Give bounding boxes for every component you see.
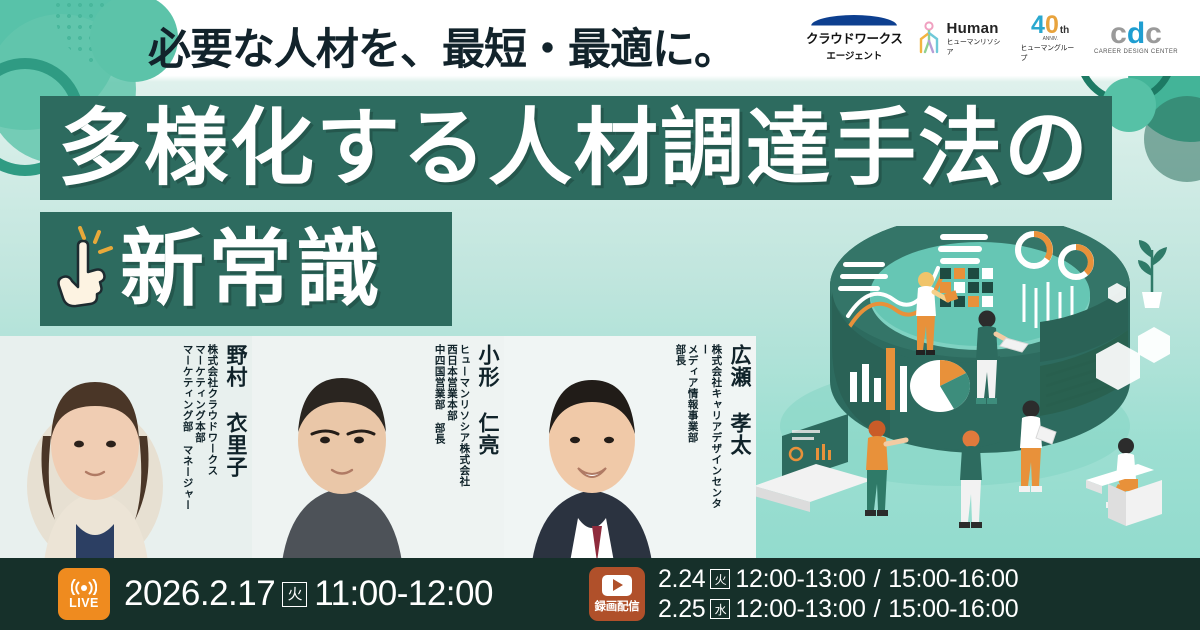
cdc-mark-2: d <box>1127 21 1145 47</box>
speaker-name-2: 広瀬 孝太 <box>727 344 750 456</box>
speakers-row: 野村 衣里子 株式会社クラウドワークス マーケティング本部 マーケティング部 マ… <box>0 336 760 562</box>
recorded-row-0: 2.24 火 12:00-13:00 / 15:00-16:00 <box>658 565 1018 594</box>
recorded-schedule-group: 録画配信 2.24 火 12:00-13:00 / 15:00-16:00 2.… <box>589 565 1018 624</box>
human-resocia-logo-sub: ヒューマンリソシア <box>946 37 1006 57</box>
human-group-40th-logo: 4 0 th ANNIV. ヒューマングループ <box>1020 13 1080 63</box>
recorded-badge: 録画配信 <box>589 567 645 621</box>
live-broadcast-icon <box>71 579 97 595</box>
recorded-slot2-1: 15:00-16:00 <box>888 595 1018 624</box>
decor-circle-right-2 <box>1144 96 1200 182</box>
cdc-letter-marks: c d c <box>1110 21 1162 47</box>
speaker-org-line-1-0: ヒューマンリソシア株式会社 <box>458 344 469 487</box>
schedule-bar: LIVE 2026.2.17 火 11:00-12:00 録画配信 2.24 火… <box>0 558 1200 630</box>
human-figure-icon <box>916 21 942 55</box>
cdc-mark-3: c <box>1145 21 1162 47</box>
recorded-date-0: 2.24 <box>658 565 705 594</box>
headline-line2: 新常識 <box>120 227 384 311</box>
recorded-rows: 2.24 火 12:00-13:00 / 15:00-16:00 2.25 水 … <box>658 565 1018 624</box>
human-resocia-logo: Human ヒューマンリソシア <box>916 20 1006 57</box>
speaker-labels-2: 広瀬 孝太 株式会社キャリアデザインセンター メディア情報事業部 部長 <box>674 344 750 516</box>
recorded-weekday-0: 火 <box>710 569 730 589</box>
speaker-labels-1: 小形 仁亮 ヒューマンリソシア株式会社 西日本営業本部 中四国営業部 部長 <box>433 344 498 516</box>
recorded-date-1: 2.25 <box>658 595 705 624</box>
speaker-org-line-1-2: 中四国営業部 部長 <box>433 344 444 445</box>
recorded-weekday-1: 水 <box>710 599 730 619</box>
live-weekday: 火 <box>282 582 307 607</box>
cdc-mark-1: c <box>1110 21 1127 47</box>
decor-dotted-circle-left <box>55 0 163 66</box>
headline-bar-line1: 多様化する人材調達手法の <box>40 96 1112 200</box>
speaker-org-line-2-2: 部長 <box>674 344 685 366</box>
headline-bar-line2: 新常識 <box>40 212 452 326</box>
speaker-card-0: 野村 衣里子 株式会社クラウドワークス マーケティング本部 マーケティング部 マ… <box>0 336 252 562</box>
live-schedule-group: LIVE 2026.2.17 火 11:00-12:00 <box>58 568 493 620</box>
partner-logo-bar: クラウドワークス エージェント Human ヒューマンリソシア <box>780 0 1200 76</box>
career-design-center-logo: c d c CAREER DESIGN CENTER <box>1094 21 1178 55</box>
live-datetime: 2026.2.17 火 11:00-12:00 <box>124 574 493 614</box>
human-resocia-logo-main: Human <box>946 20 998 37</box>
speaker-card-2: 広瀬 孝太 株式会社キャリアデザインセンター メディア情報事業部 部長 <box>504 336 756 562</box>
human-group-logo-sub: ヒューマングループ <box>1020 43 1080 63</box>
anniversary-number-4: 4 <box>1031 13 1045 38</box>
recorded-slot1-0: 12:00-13:00 <box>735 565 865 594</box>
anniversary-number-0: 0 <box>1045 13 1059 38</box>
recorded-slot2-0: 15:00-16:00 <box>888 565 1018 594</box>
live-badge-label: LIVE <box>69 596 99 610</box>
crowdworks-logo-line2: エージェント <box>826 48 882 62</box>
crowdworks-swoosh-icon <box>811 15 897 26</box>
tagline: 必要な人材を、最短・最適に。 <box>148 28 736 73</box>
anniversary-label: ANNIV. <box>1043 36 1058 42</box>
recorded-slot1-1: 12:00-13:00 <box>735 595 865 624</box>
webinar-banner: クラウドワークス エージェント Human ヒューマンリソシア <box>0 0 1200 630</box>
speaker-org-line-0-0: 株式会社クラウドワークス <box>206 344 217 476</box>
recorded-badge-label: 録画配信 <box>595 598 640 614</box>
recorded-row-1: 2.25 水 12:00-13:00 / 15:00-16:00 <box>658 595 1018 624</box>
speaker-org-line-2-1: メディア情報事業部 <box>686 344 697 443</box>
speaker-org-line-2-0: 株式会社キャリアデザインセンター <box>699 344 722 516</box>
anniversary-th: th <box>1060 25 1069 36</box>
speaker-org-line-0-1: マーケティング本部 <box>194 344 205 443</box>
speaker-card-1: 小形 仁亮 ヒューマンリソシア株式会社 西日本営業本部 中四国営業部 部長 <box>252 336 504 562</box>
crowdworks-logo-line1: クラウドワークス <box>806 28 902 47</box>
live-badge: LIVE <box>58 568 110 620</box>
pointing-finger-icon <box>54 226 116 312</box>
play-button-icon <box>602 575 632 596</box>
isometric-data-dashboard-illustration <box>740 226 1200 560</box>
recorded-separator-1: / <box>874 595 881 624</box>
speaker-org-line-0-2: マーケティング部 マネージャー <box>181 344 192 511</box>
speaker-name-1: 小形 仁亮 <box>475 344 498 456</box>
cdc-logo-sub: CAREER DESIGN CENTER <box>1094 49 1178 55</box>
headline-line1: 多様化する人材調達手法の <box>58 106 1090 190</box>
live-date: 2026.2.17 <box>124 574 275 614</box>
crowdworks-agent-logo: クラウドワークス エージェント <box>806 15 902 62</box>
speaker-name-0: 野村 衣里子 <box>223 344 246 478</box>
speaker-org-line-1-1: 西日本営業本部 <box>446 344 457 421</box>
live-time: 11:00-12:00 <box>314 574 493 614</box>
speaker-labels-0: 野村 衣里子 株式会社クラウドワークス マーケティング本部 マーケティング部 マ… <box>181 344 246 516</box>
recorded-separator-0: / <box>874 565 881 594</box>
